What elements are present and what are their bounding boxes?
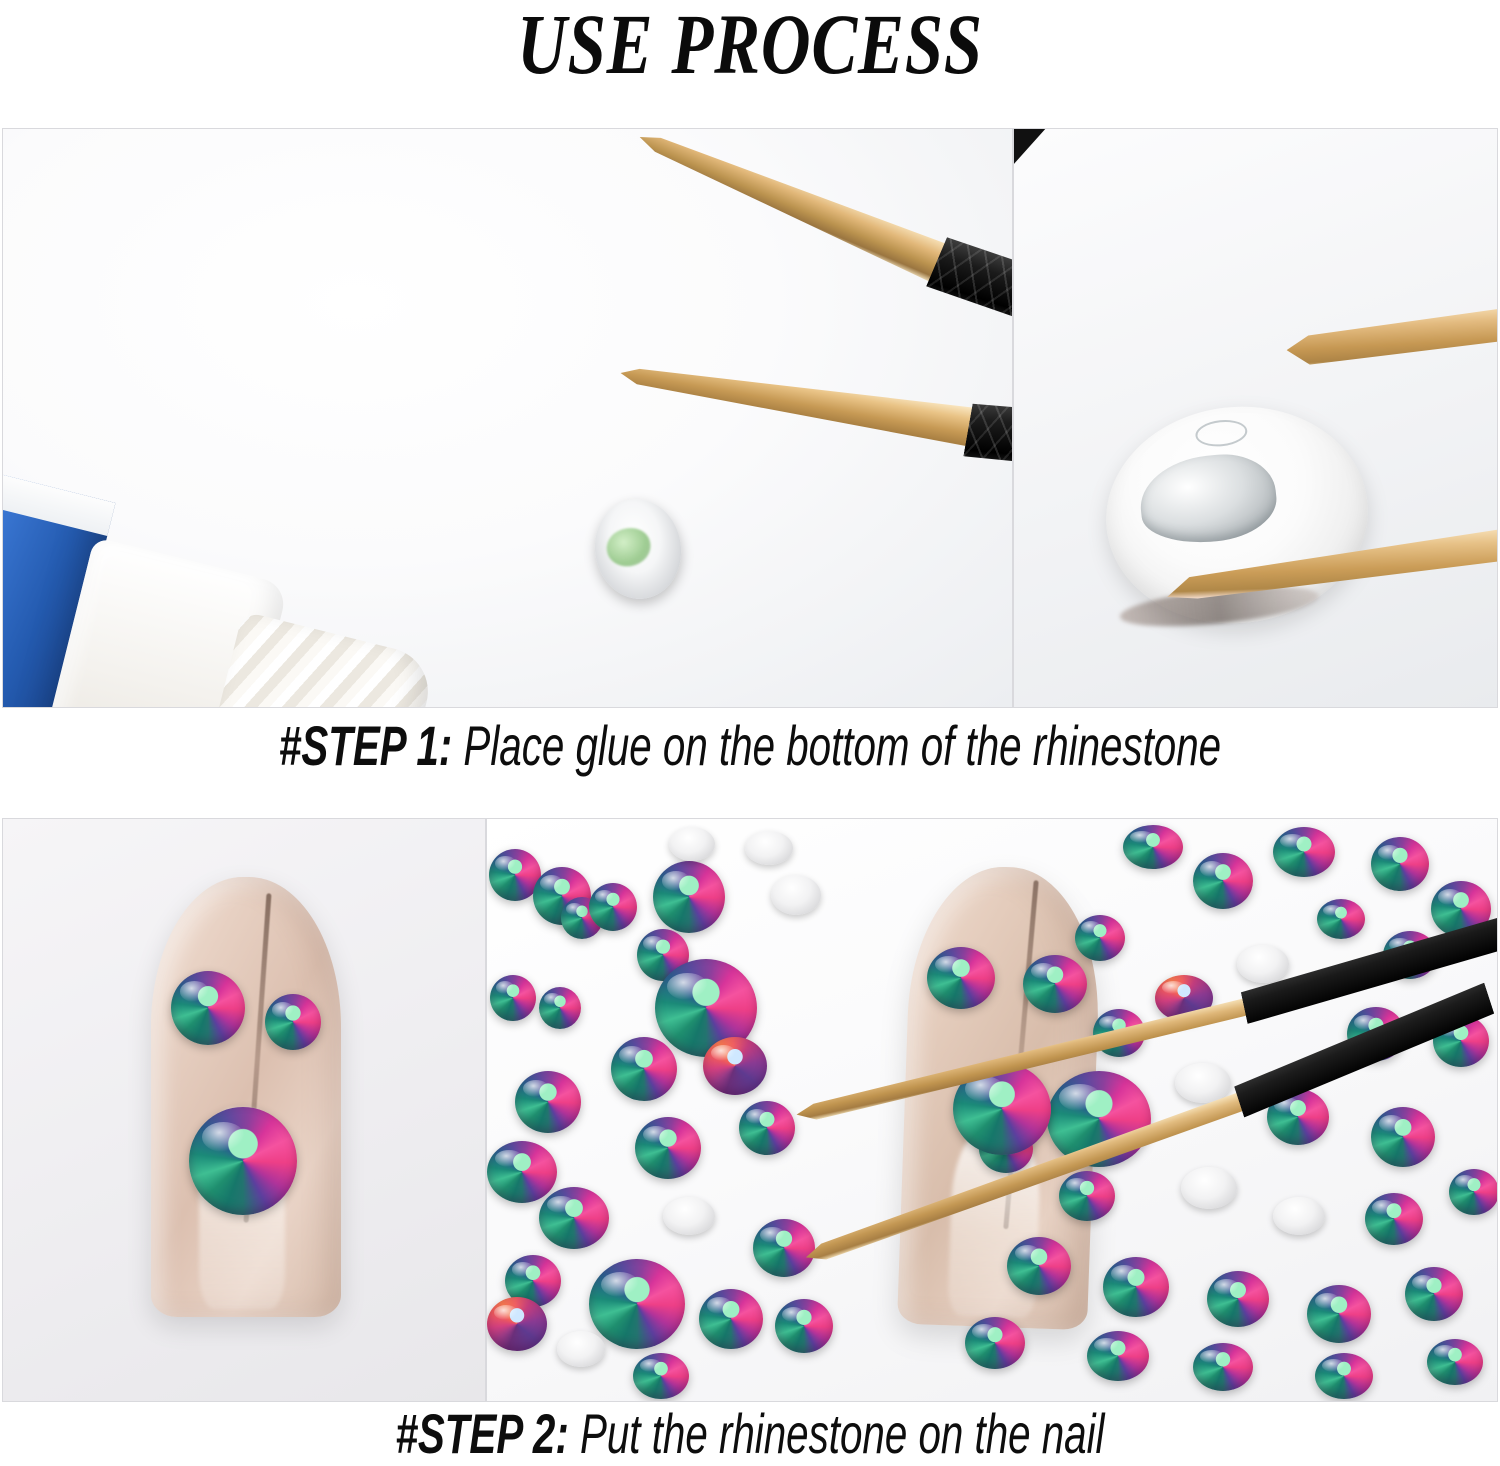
rhinestone-on-nail [927, 947, 995, 1009]
step-1-label: #STEP 1: [279, 714, 452, 777]
rhinestone-silver-back [771, 875, 821, 915]
panel-glue-bottle: O T [2, 128, 1013, 708]
step-1-text: Place glue on the bottom of the rhinesto… [452, 714, 1221, 777]
rhinestone-medium [171, 971, 245, 1045]
rhinestone-scatter [1427, 1339, 1483, 1385]
rhinestone-scatter-large [589, 1259, 685, 1349]
rhinestone-scatter [1087, 1331, 1149, 1381]
rhinestone-scatter [1207, 1271, 1269, 1327]
rhinestone-scatter [1193, 1343, 1253, 1391]
rhinestone-on-nail [1023, 955, 1087, 1013]
step-2-caption: #STEP 2: Put the rhinestone on the nail [210, 1404, 1290, 1464]
rhinestone-small [265, 994, 321, 1050]
rhinestone-scatter [1371, 837, 1429, 891]
glue-droplet [1136, 449, 1280, 549]
rhinestone-scatter [1405, 1267, 1463, 1321]
rhinestone-silver-back [669, 827, 715, 861]
rhinestone-large [189, 1107, 297, 1215]
rhinestone-scatter [965, 1317, 1025, 1369]
rhinestone-scatter [635, 1117, 701, 1179]
page-title: USE PROCESS [150, 2, 1350, 86]
rhinestone-scatter [1007, 1237, 1071, 1295]
rhinestone-scatter [1307, 1285, 1371, 1343]
use-process-infographic: USE PROCESS O T [0, 0, 1500, 1466]
rhinestone-silver-back [745, 831, 793, 865]
rhinestone-scatter [1123, 825, 1183, 869]
rhinestone-scatter [1315, 1353, 1373, 1399]
step-2-label: #STEP 2: [395, 1402, 568, 1465]
rhinestone-scatter [539, 987, 581, 1029]
rhinestone-scatter [739, 1101, 795, 1155]
rhinestone-scatter [611, 1037, 677, 1101]
rhinestone-scatter [699, 1289, 763, 1349]
rhinestone-scatter [1449, 1169, 1498, 1215]
rhinestone-scatter [539, 1187, 609, 1249]
rhinestone-scatter [589, 883, 637, 931]
rhinestone-scatter-red [703, 1037, 767, 1095]
rhinestone-scatter [487, 1141, 557, 1203]
glue-bubble [1194, 418, 1248, 449]
rhinestone-silver-back [1181, 1167, 1237, 1209]
rhinestone-scatter [1371, 1107, 1435, 1167]
panel-finished-nail [2, 818, 486, 1402]
nude-nail [151, 877, 341, 1317]
rhinestone-scatter [1193, 853, 1253, 909]
rhinestone-scatter [1103, 1257, 1169, 1317]
panel-applying-stones [486, 818, 1498, 1402]
step-1-caption: #STEP 1: Place glue on the bottom of the… [210, 716, 1290, 776]
rhinestone-scatter [515, 1071, 581, 1133]
rhinestone-scatter [1317, 899, 1365, 939]
rhinestone-scatter [653, 861, 725, 933]
step-1-image-row: O T [2, 128, 1498, 708]
rhinestone-silver-back [557, 1331, 605, 1367]
rhinestone-scatter-red [487, 1297, 547, 1351]
step-2-image-row [2, 818, 1498, 1402]
tweezer-black-grip [963, 385, 1013, 489]
panel-glue-droplet [1013, 128, 1498, 708]
rhinestone-silver-back [663, 1197, 715, 1235]
rhinestone-scatter [1273, 827, 1335, 877]
step-2-text: Put the rhinestone on the nail [569, 1402, 1105, 1465]
rhinestone-scatter [633, 1353, 689, 1399]
rhinestone-scatter [1075, 915, 1125, 961]
rhinestone-scatter [775, 1299, 833, 1353]
rhinestone-silver-back [1273, 1197, 1325, 1235]
rhinestone-scatter [1365, 1193, 1423, 1245]
glue-drop [604, 525, 653, 569]
rhinestone-scatter [490, 975, 536, 1021]
